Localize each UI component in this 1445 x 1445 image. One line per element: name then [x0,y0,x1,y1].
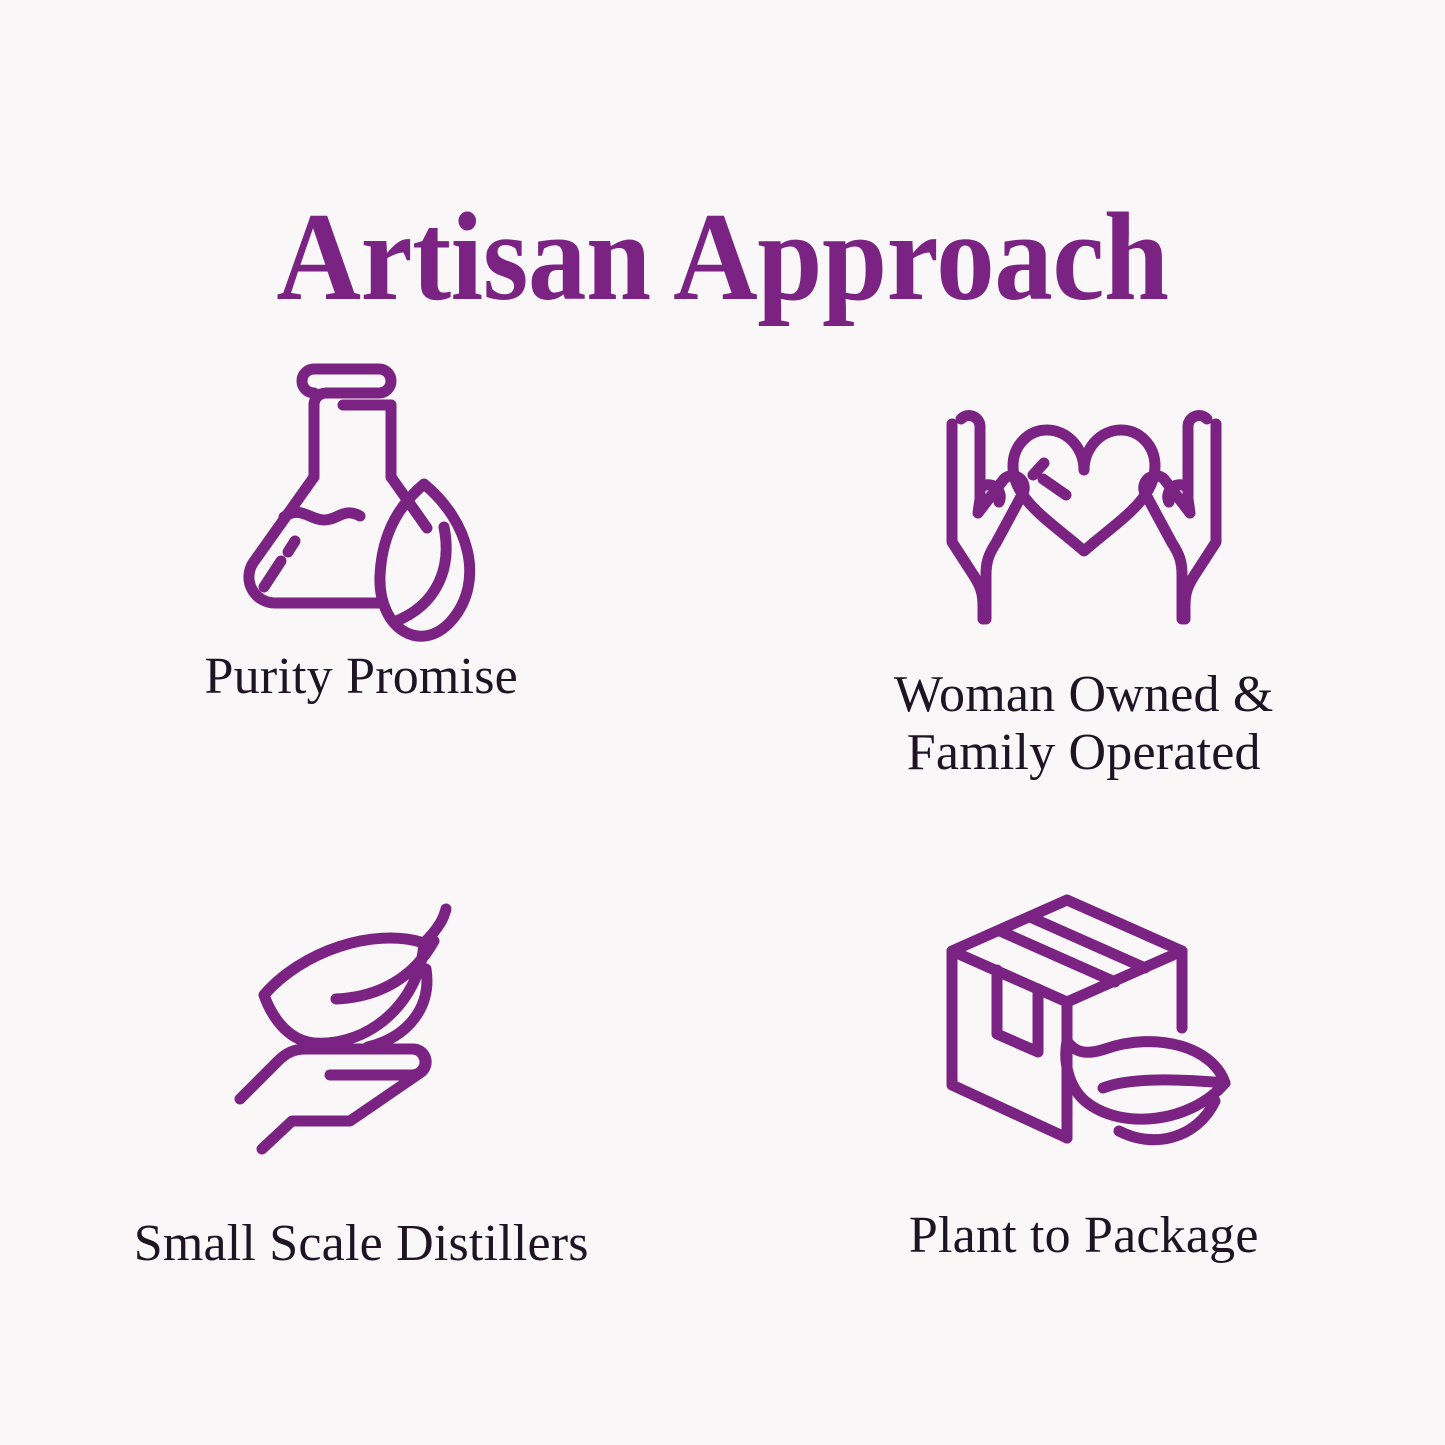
flask-leaf-icon [211,340,511,630]
feature-purity-promise: Purity Promise [0,330,723,835]
hand-holding-leaf-icon-svg [226,903,496,1153]
hands-holding-heart-icon-svg [934,367,1234,627]
artisan-approach-panel: Artisan Approach [0,0,1445,1445]
flask-shine-long [264,561,281,587]
box-top-face [952,900,1182,1002]
feature-grid: Purity Promise [0,330,1445,1340]
box-leaf-icon-svg [934,888,1234,1153]
flask-rim-left [302,369,314,393]
heart-outline [1013,430,1155,551]
feature-label-small-scale-distillers: Small Scale Distillers [134,1215,589,1273]
feature-label-woman-owned: Woman Owned & Family Operated [894,666,1274,782]
flask-leaf-outline [380,484,470,636]
feature-small-scale-distillers: Small Scale Distillers [0,835,723,1340]
flask-shine-short [288,541,295,552]
box-leaf-vein [1103,1079,1225,1087]
flask-leaf-vein [394,527,446,622]
page-title: Artisan Approach [51,192,1395,324]
hand-holding-leaf-icon [211,883,511,1173]
box-leaf-icon [934,875,1234,1165]
flask-leaf-icon-svg [231,345,491,625]
feature-plant-to-package: Plant to Package [723,835,1445,1340]
hands-holding-heart-icon [934,352,1234,642]
heart-shine-short [1033,463,1044,475]
feature-woman-owned: Woman Owned & Family Operated [723,330,1445,835]
feature-label-plant-to-package: Plant to Package [909,1207,1259,1265]
feature-label-purity-promise: Purity Promise [205,648,518,706]
flask-liquid-wave [284,512,360,520]
heart-shine-long [1043,479,1066,495]
hand-lower-edge [262,1049,426,1149]
